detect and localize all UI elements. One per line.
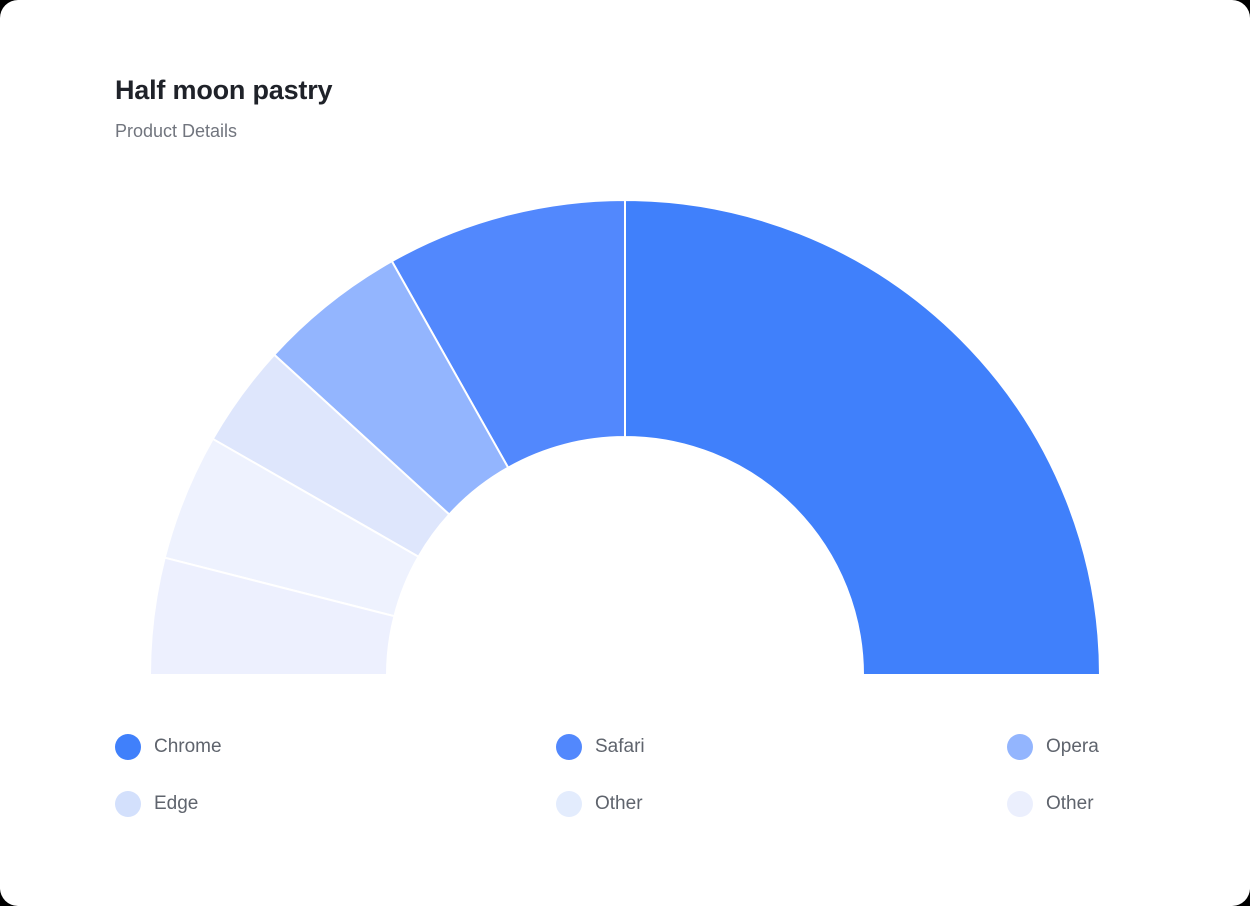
legend-item-2[interactable]: Opera	[1007, 734, 1099, 760]
legend-label-2: Opera	[1046, 734, 1099, 760]
half-donut-chart	[0, 0, 1250, 906]
legend-label-3: Edge	[154, 791, 198, 817]
legend-item-1[interactable]: Safari	[556, 734, 645, 760]
legend-item-5[interactable]: Other	[1007, 791, 1094, 817]
legend-swatch-5	[1007, 791, 1033, 817]
donut-slice-group	[150, 200, 1100, 675]
legend-swatch-4	[556, 791, 582, 817]
donut-svg	[0, 0, 1250, 906]
legend-swatch-0	[115, 734, 141, 760]
legend-item-3[interactable]: Edge	[115, 791, 198, 817]
legend-label-0: Chrome	[154, 734, 222, 760]
legend-label-4: Other	[595, 791, 643, 817]
legend-swatch-3	[115, 791, 141, 817]
donut-slice-chrome-0[interactable]	[625, 200, 1100, 675]
legend-swatch-1	[556, 734, 582, 760]
legend-label-1: Safari	[595, 734, 645, 760]
chart-card: Half moon pastry Product Details Chrome …	[0, 0, 1250, 906]
legend-item-4[interactable]: Other	[556, 791, 643, 817]
legend-swatch-2	[1007, 734, 1033, 760]
legend-label-5: Other	[1046, 791, 1094, 817]
legend-item-0[interactable]: Chrome	[115, 734, 222, 760]
